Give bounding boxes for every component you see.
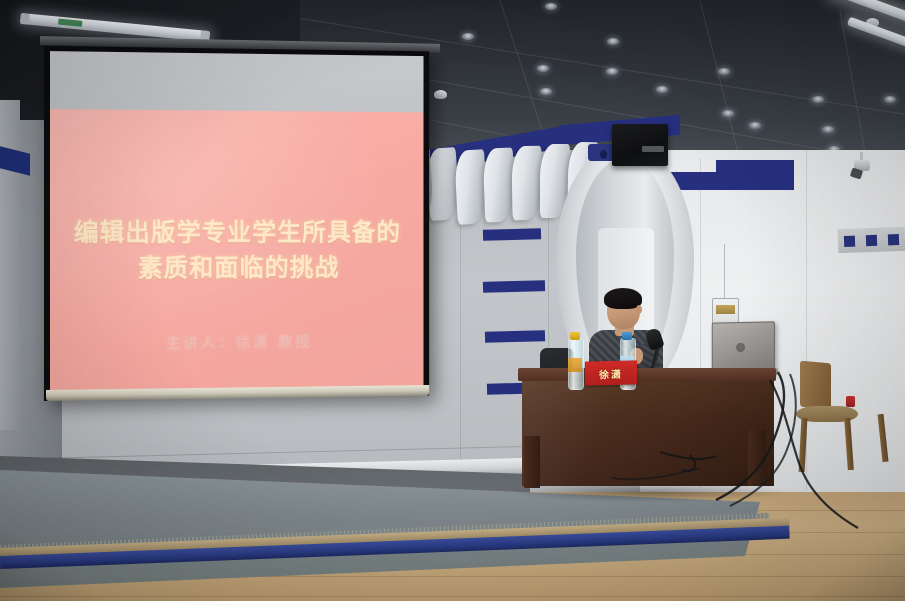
blue-square — [866, 235, 877, 246]
wooden-chair-back[interactable] — [800, 361, 831, 410]
downlight — [537, 65, 549, 72]
slide-subtitle: 主讲人：徐潇 教授 — [50, 330, 424, 354]
ceiling-fixture-dot — [600, 150, 607, 159]
slide-title-line1: 编辑出版学专业学生所具备的 — [64, 215, 410, 251]
control-panel-window — [716, 305, 735, 314]
desk-leg — [748, 430, 766, 486]
presentation-slide: 编辑出版学专业学生所具备的 素质和面临的挑战 主讲人：徐潇 教授 — [50, 109, 424, 390]
lecture-desk-front — [522, 378, 774, 486]
lecture-hall-photo: 编辑出版学专业学生所具备的 素质和面临的挑战 主讲人：徐潇 教授 — [0, 0, 905, 601]
downlight — [606, 68, 618, 75]
projection-screen: 编辑出版学专业学生所具备的 素质和面临的挑战 主讲人：徐潇 教授 — [44, 46, 429, 401]
bottle-cap — [570, 332, 580, 340]
downlight — [718, 68, 730, 75]
screen-surface: 编辑出版学专业学生所具备的 素质和面临的挑战 主讲人：徐潇 教授 — [50, 51, 424, 390]
blue-accent-panel — [716, 160, 794, 190]
blue-wall-bar — [483, 280, 545, 293]
desk-leg — [524, 436, 540, 488]
laptop-screen-lid[interactable] — [712, 321, 775, 374]
downlight — [749, 122, 761, 129]
downlight — [822, 126, 834, 133]
downlight — [540, 88, 552, 95]
screen-blank-band — [50, 51, 424, 112]
object-on-chair — [846, 396, 855, 407]
smoke-detector-icon — [434, 90, 447, 99]
laptop-logo-icon — [736, 343, 745, 352]
downlight — [607, 38, 619, 45]
slide-title-line2: 素质和面临的挑战 — [64, 250, 410, 287]
bottle-label — [568, 358, 582, 372]
name-card: 徐潇 — [585, 360, 637, 385]
loudspeaker — [612, 124, 668, 166]
downlight — [656, 86, 668, 93]
name-card-text: 徐潇 — [599, 365, 623, 381]
blue-square — [888, 234, 899, 245]
lecture-desk-top — [518, 368, 776, 381]
downlight — [462, 33, 474, 40]
downlight — [545, 3, 557, 10]
bottle-cap — [622, 332, 632, 340]
downlight — [722, 110, 734, 117]
presenter-ear — [636, 305, 642, 314]
downlight — [812, 96, 824, 103]
decorative-wall-strip — [838, 227, 905, 253]
blue-wall-bar — [485, 330, 545, 343]
blue-square — [844, 236, 855, 247]
blue-wall-bar — [483, 228, 541, 241]
speaker-brand-label — [642, 146, 664, 152]
slide-title: 编辑出版学专业学生所具备的 素质和面临的挑战 — [50, 215, 424, 287]
conduit — [724, 244, 725, 299]
downlight — [884, 96, 896, 103]
